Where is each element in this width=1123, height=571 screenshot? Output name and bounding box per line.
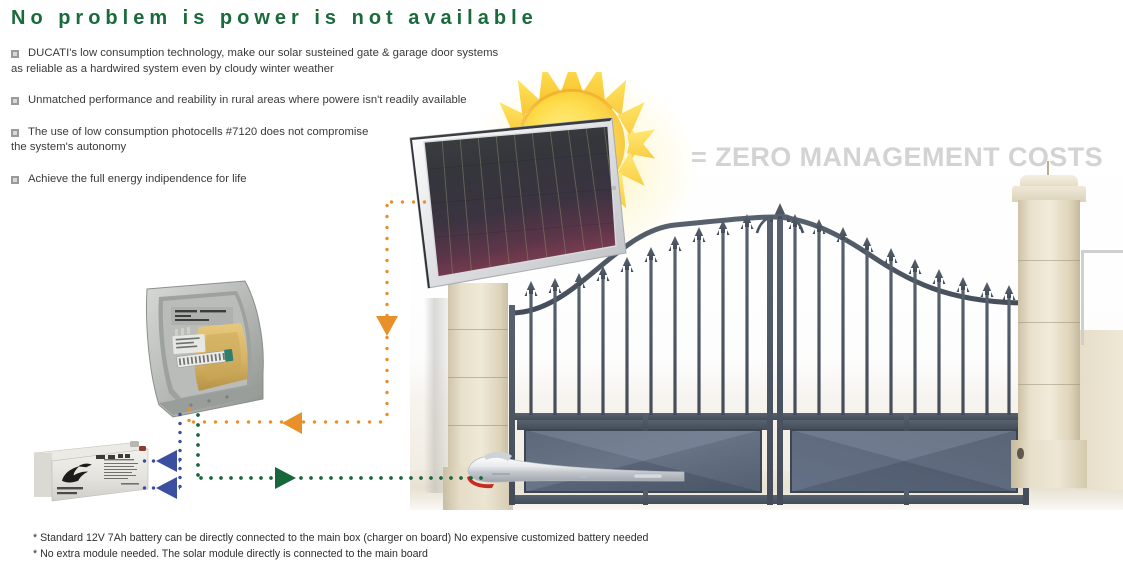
battery: [26, 437, 154, 505]
zero-management-costs-callout: = ZERO MANAGEMENT COSTS: [691, 142, 1103, 173]
control-box-graphic: [137, 277, 282, 425]
bullet-line-2: the system's autonomy: [11, 140, 511, 156]
bullet-list: DUCATI's low consumption technology, mak…: [11, 46, 511, 197]
bullet-line-2: as reliable as a hardwired system even b…: [11, 62, 511, 78]
square-bullet-icon: [11, 129, 19, 137]
flow-solar-arrow-left: [282, 412, 302, 434]
list-item: Unmatched performance and reability in r…: [11, 93, 511, 109]
control-box: [137, 277, 282, 425]
list-item: Achieve the full energy indipendence for…: [11, 172, 511, 188]
bullet-line-1: DUCATI's low consumption technology, mak…: [28, 47, 498, 59]
bullet-line-1: The use of low consumption photocells #7…: [28, 126, 368, 138]
background-railing: [1081, 250, 1123, 345]
bullet-line-1: Achieve the full energy indipendence for…: [28, 173, 247, 185]
pillar-right-base: [1011, 440, 1087, 488]
slide-canvas: No problem is power is not available DUC…: [0, 0, 1123, 571]
flow-solar-top-horizontal: [386, 200, 428, 204]
square-bullet-icon: [11, 176, 19, 184]
flow-solar-arrow-down: [376, 316, 398, 336]
footnote-block: * Standard 12V 7Ah battery can be direct…: [33, 530, 648, 562]
operator-arm-graphic: [448, 450, 688, 495]
flow-battery-vertical: [178, 410, 182, 488]
bullet-line-1: Unmatched performance and reability in r…: [28, 94, 467, 106]
flow-operator-arrow-right: [275, 467, 296, 489]
flow-operator-horizontal: [196, 476, 488, 480]
page-title: No problem is power is not available: [11, 7, 538, 30]
flow-battery-arrow-upper: [156, 450, 177, 472]
flow-solar-vertical: [385, 200, 389, 422]
flow-solar-box-stub: [187, 404, 191, 424]
list-item: DUCATI's low consumption technology, mak…: [11, 46, 511, 77]
footnote-2: * No extra module needed. The solar modu…: [33, 546, 648, 562]
footnote-1: * Standard 12V 7Ah battery can be direct…: [33, 530, 648, 546]
fence-post-left: [424, 298, 450, 493]
square-bullet-icon: [11, 97, 19, 105]
list-item: The use of low consumption photocells #7…: [11, 125, 511, 156]
flow-battery-arrow-lower: [156, 477, 177, 499]
flow-operator-vertical: [196, 410, 200, 478]
battery-graphic: [26, 437, 154, 505]
square-bullet-icon: [11, 50, 19, 58]
gate-operator-arm: [448, 450, 688, 495]
